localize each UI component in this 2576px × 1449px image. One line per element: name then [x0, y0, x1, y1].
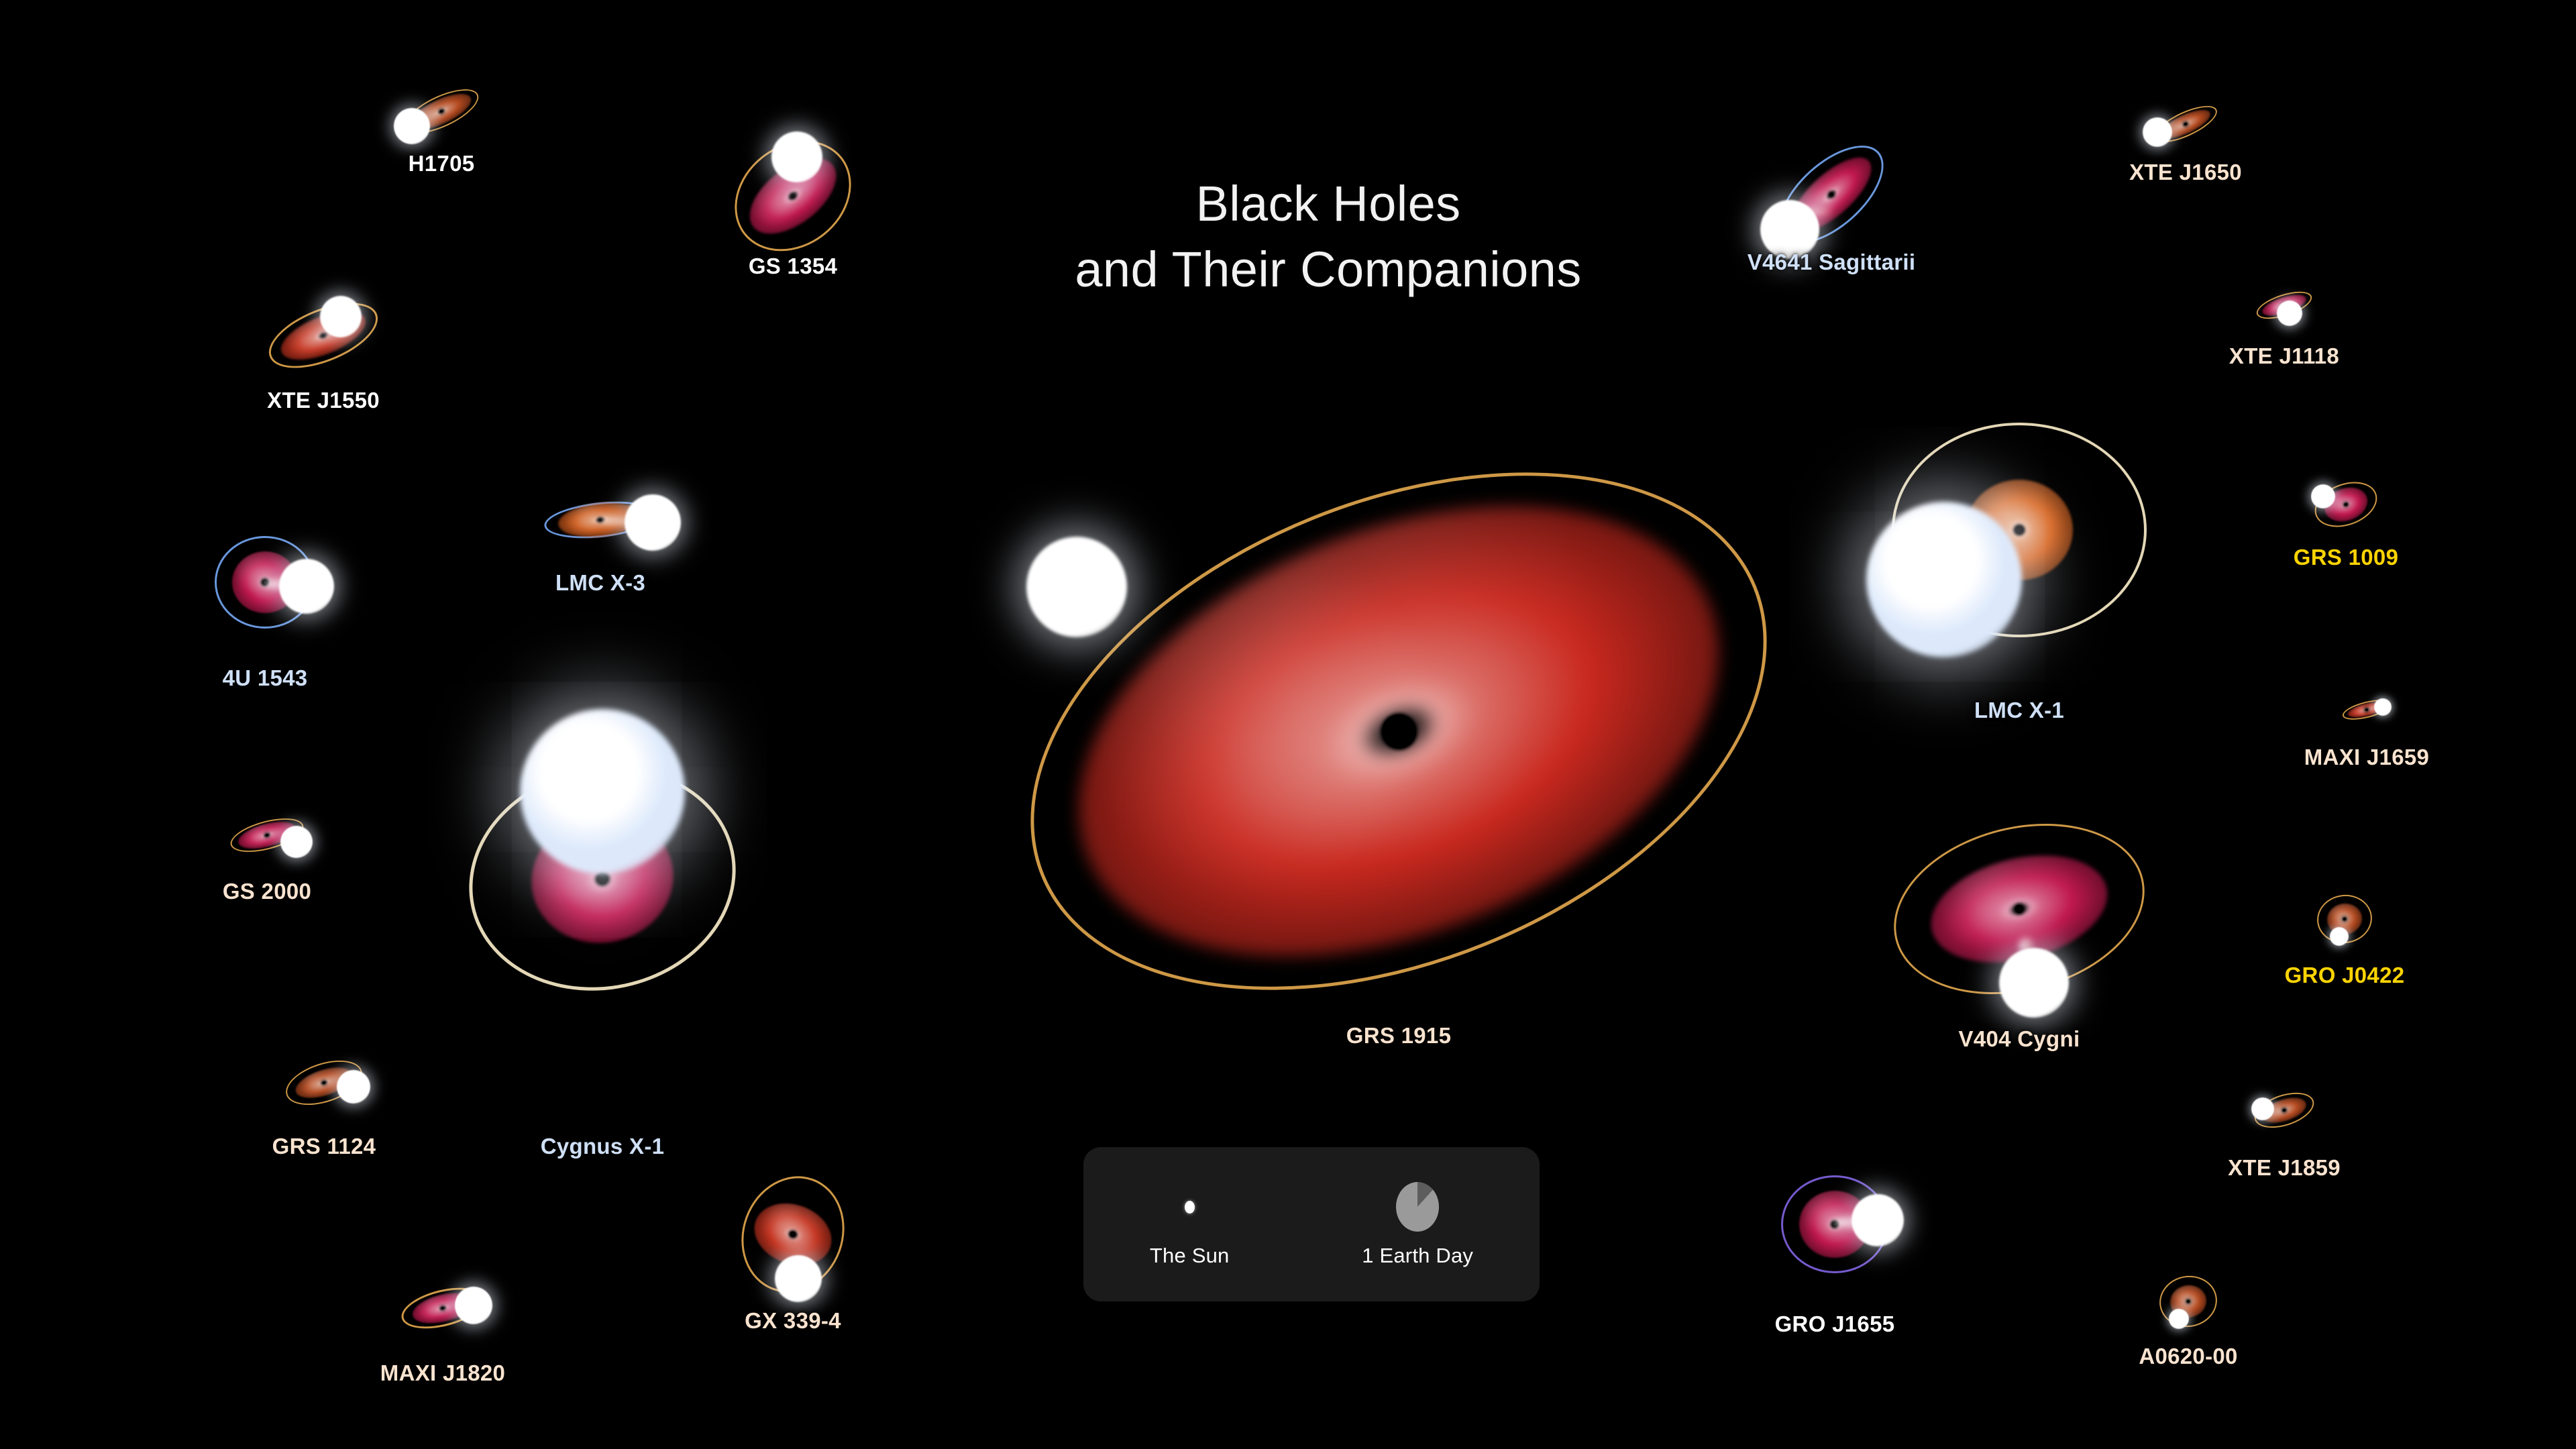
companion-star [2330, 927, 2349, 946]
companion-star [2277, 301, 2302, 326]
system-label: GRS 1009 [2294, 545, 2399, 570]
system-label: 4U 1543 [223, 665, 308, 691]
starfield-canvas: Black Holes and Their Companions H1705GS… [0, 0, 2576, 1449]
black-hole [2365, 708, 2368, 711]
legend-item-earth-day: 1 Earth Day [1362, 1181, 1473, 1268]
system-label: XTE J1550 [267, 388, 380, 413]
companion-star [337, 1070, 370, 1104]
companion-star [1851, 1194, 1904, 1246]
system-label: GS 1354 [749, 254, 837, 279]
companion-star [2143, 117, 2172, 147]
companion-star [394, 108, 430, 144]
black-hole [441, 1307, 444, 1309]
companion-star [625, 494, 681, 551]
sun-dot-icon [1185, 1181, 1195, 1233]
system-label: XTE J1650 [2129, 160, 2242, 185]
legend-sun-label: The Sun [1150, 1244, 1230, 1268]
companion-star [771, 131, 822, 182]
companion-star [280, 826, 313, 858]
system-label: MAXI J1820 [380, 1360, 505, 1386]
system-label: V404 Cygni [1959, 1026, 2080, 1052]
system-label: Cygnus X-1 [541, 1134, 665, 1159]
page-title: Black Holes and Their Companions [1033, 171, 1623, 302]
system-label: XTE J1859 [2228, 1155, 2341, 1181]
companion-star [320, 296, 362, 337]
companion-star [775, 1255, 822, 1302]
system-label: MAXI J1659 [2304, 745, 2429, 770]
companion-star [520, 709, 685, 874]
system-label: H1705 [409, 151, 475, 176]
black-hole [266, 834, 268, 837]
clock-pie-icon [1396, 1181, 1439, 1233]
legend-earth-day-label: 1 Earth Day [1362, 1244, 1473, 1268]
companion-star [2311, 484, 2335, 508]
system-label: V4641 Sagittarii [1748, 250, 1916, 275]
system-label: A0620-00 [2139, 1344, 2237, 1369]
black-hole [2343, 918, 2346, 920]
system-label: GRO J1655 [1775, 1311, 1895, 1337]
system-label: GRS 1124 [272, 1134, 376, 1159]
black-hole [440, 110, 443, 113]
black-hole [597, 873, 608, 884]
system-label: XTE J1118 [2229, 343, 2339, 369]
black-hole [2184, 123, 2187, 125]
system-label: GX 339-4 [745, 1308, 841, 1334]
companion-star [1999, 948, 2069, 1018]
companion-star [455, 1287, 492, 1324]
system-label: GRO J0422 [2285, 963, 2405, 988]
black-hole [2283, 1109, 2286, 1112]
black-hole [1829, 193, 1833, 196]
black-hole [790, 1232, 795, 1236]
companion-star [2374, 698, 2392, 716]
system-label: GRS 1915 [1346, 1023, 1452, 1049]
companion-star [2169, 1309, 2189, 1329]
black-hole [1382, 714, 1416, 749]
companion-star [279, 559, 334, 614]
companion-star [1866, 502, 2022, 657]
system-label: LMC X-1 [1974, 698, 2064, 723]
system-label: LMC X-3 [555, 570, 645, 596]
companion-star [1026, 537, 1127, 637]
system-label: GS 2000 [223, 879, 311, 904]
legend-panel: The Sun 1 Earth Day [1083, 1147, 1540, 1301]
black-hole [323, 1081, 325, 1084]
companion-star [2251, 1097, 2274, 1120]
legend-item-sun: The Sun [1150, 1181, 1230, 1268]
